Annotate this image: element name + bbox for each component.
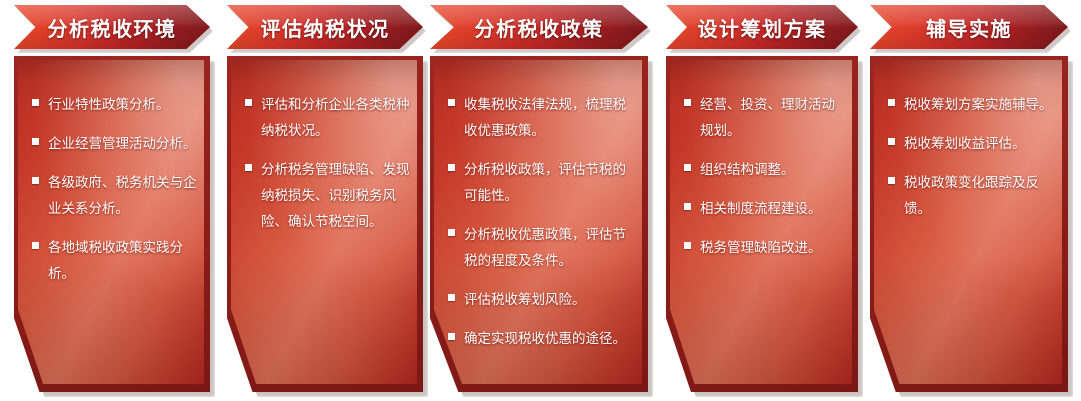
list-item-label: 评估税收筹划风险。 [464, 287, 638, 313]
process-column-2: 评估纳税状况评估和分析企业各类税种纳税状况。分析税务管理缺陷、发现纳税损失、识别… [227, 0, 423, 401]
process-flow-board: 分析税收环境行业特性政策分析。企业经营管理活动分析。各级政府、税务机关与企业关系… [0, 0, 1081, 401]
process-column-1: 分析税收环境行业特性政策分析。企业经营管理活动分析。各级政府、税务机关与企业关系… [14, 0, 210, 401]
square-bullet-icon [448, 333, 455, 340]
list-item-label: 经营、投资、理财活动规划。 [700, 92, 848, 144]
list-item-label: 分析税收政策，评估节税的可能性。 [464, 157, 638, 209]
stage-bullet-list-5: 税收筹划方案实施辅导。税收筹划收益评估。税收政策变化跟踪及反馈。 [870, 56, 1068, 392]
stage-panel-1: 行业特性政策分析。企业经营管理活动分析。各级政府、税务机关与企业关系分析。各地域… [14, 56, 210, 392]
list-item-label: 分析税务管理缺陷、发现纳税损失、识别税务风险、确认节税空间。 [261, 157, 413, 235]
stage-banner-5[interactable]: 辅导实施 [870, 5, 1068, 49]
square-bullet-icon [888, 138, 895, 145]
list-item-label: 确定实现税收优惠的途径。 [464, 326, 638, 352]
list-item: 相关制度流程建设。 [684, 196, 848, 222]
list-item: 各地域税收政策实践分析。 [32, 235, 200, 287]
square-bullet-icon [448, 229, 455, 236]
list-item: 分析税务管理缺陷、发现纳税损失、识别税务风险、确认节税空间。 [245, 157, 413, 235]
list-item-label: 税收筹划收益评估。 [904, 131, 1058, 157]
stage-bullet-list-2: 评估和分析企业各类税种纳税状况。分析税务管理缺陷、发现纳税损失、识别税务风险、确… [227, 56, 423, 392]
square-bullet-icon [32, 177, 39, 184]
stage-panel-4: 经营、投资、理财活动规划。组织结构调整。相关制度流程建设。税务管理缺陷改进。 [666, 56, 858, 392]
square-bullet-icon [888, 177, 895, 184]
stage-banner-label-2: 评估纳税状况 [227, 5, 423, 49]
list-item-label: 收集税收法律法规，梳理税收优惠政策。 [464, 92, 638, 144]
square-bullet-icon [245, 164, 252, 171]
square-bullet-icon [32, 242, 39, 249]
list-item: 税务管理缺陷改进。 [684, 235, 848, 261]
list-item-label: 各地域税收政策实践分析。 [48, 235, 200, 287]
stage-panel-2: 评估和分析企业各类税种纳税状况。分析税务管理缺陷、发现纳税损失、识别税务风险、确… [227, 56, 423, 392]
square-bullet-icon [32, 138, 39, 145]
list-item: 税收筹划方案实施辅导。 [888, 92, 1058, 118]
square-bullet-icon [684, 99, 691, 106]
list-item: 分析税收优惠政策，评估节税的程度及条件。 [448, 222, 638, 274]
list-item: 评估和分析企业各类税种纳税状况。 [245, 92, 413, 144]
list-item-label: 企业经营管理活动分析。 [48, 131, 200, 157]
square-bullet-icon [448, 164, 455, 171]
list-item-label: 各级政府、税务机关与企业关系分析。 [48, 170, 200, 222]
stage-banner-label-3: 分析税收政策 [430, 5, 648, 49]
stage-banner-3[interactable]: 分析税收政策 [430, 5, 648, 49]
list-item-label: 行业特性政策分析。 [48, 92, 200, 118]
list-item: 税收政策变化跟踪及反馈。 [888, 170, 1058, 222]
list-item-label: 相关制度流程建设。 [700, 196, 848, 222]
square-bullet-icon [684, 164, 691, 171]
stage-panel-3: 收集税收法律法规，梳理税收优惠政策。分析税收政策，评估节税的可能性。分析税收优惠… [430, 56, 648, 392]
list-item-label: 评估和分析企业各类税种纳税状况。 [261, 92, 413, 144]
list-item: 分析税收政策，评估节税的可能性。 [448, 157, 638, 209]
stage-banner-label-1: 分析税收环境 [14, 5, 210, 49]
stage-banner-label-4: 设计筹划方案 [666, 5, 858, 49]
stage-bullet-list-3: 收集税收法律法规，梳理税收优惠政策。分析税收政策，评估节税的可能性。分析税收优惠… [430, 56, 648, 392]
square-bullet-icon [32, 99, 39, 106]
stage-banner-4[interactable]: 设计筹划方案 [666, 5, 858, 49]
stage-banner-2[interactable]: 评估纳税状况 [227, 5, 423, 49]
list-item: 组织结构调整。 [684, 157, 848, 183]
stage-panel-5: 税收筹划方案实施辅导。税收筹划收益评估。税收政策变化跟踪及反馈。 [870, 56, 1068, 392]
stage-banner-1[interactable]: 分析税收环境 [14, 5, 210, 49]
process-column-5: 辅导实施税收筹划方案实施辅导。税收筹划收益评估。税收政策变化跟踪及反馈。 [870, 0, 1068, 401]
square-bullet-icon [684, 203, 691, 210]
list-item: 企业经营管理活动分析。 [32, 131, 200, 157]
square-bullet-icon [684, 242, 691, 249]
square-bullet-icon [888, 99, 895, 106]
list-item-label: 分析税收优惠政策，评估节税的程度及条件。 [464, 222, 638, 274]
list-item-label: 税务管理缺陷改进。 [700, 235, 848, 261]
process-column-4: 设计筹划方案经营、投资、理财活动规划。组织结构调整。相关制度流程建设。税务管理缺… [666, 0, 858, 401]
list-item: 税收筹划收益评估。 [888, 131, 1058, 157]
square-bullet-icon [245, 99, 252, 106]
list-item: 确定实现税收优惠的途径。 [448, 326, 638, 352]
square-bullet-icon [448, 294, 455, 301]
list-item: 收集税收法律法规，梳理税收优惠政策。 [448, 92, 638, 144]
stage-bullet-list-1: 行业特性政策分析。企业经营管理活动分析。各级政府、税务机关与企业关系分析。各地域… [14, 56, 210, 392]
list-item-label: 税收筹划方案实施辅导。 [904, 92, 1058, 118]
list-item: 行业特性政策分析。 [32, 92, 200, 118]
list-item: 经营、投资、理财活动规划。 [684, 92, 848, 144]
stage-banner-label-5: 辅导实施 [870, 5, 1068, 49]
stage-bullet-list-4: 经营、投资、理财活动规划。组织结构调整。相关制度流程建设。税务管理缺陷改进。 [666, 56, 858, 392]
square-bullet-icon [448, 99, 455, 106]
list-item-label: 税收政策变化跟踪及反馈。 [904, 170, 1058, 222]
process-column-3: 分析税收政策收集税收法律法规，梳理税收优惠政策。分析税收政策，评估节税的可能性。… [430, 0, 648, 401]
list-item: 各级政府、税务机关与企业关系分析。 [32, 170, 200, 222]
list-item-label: 组织结构调整。 [700, 157, 848, 183]
list-item: 评估税收筹划风险。 [448, 287, 638, 313]
